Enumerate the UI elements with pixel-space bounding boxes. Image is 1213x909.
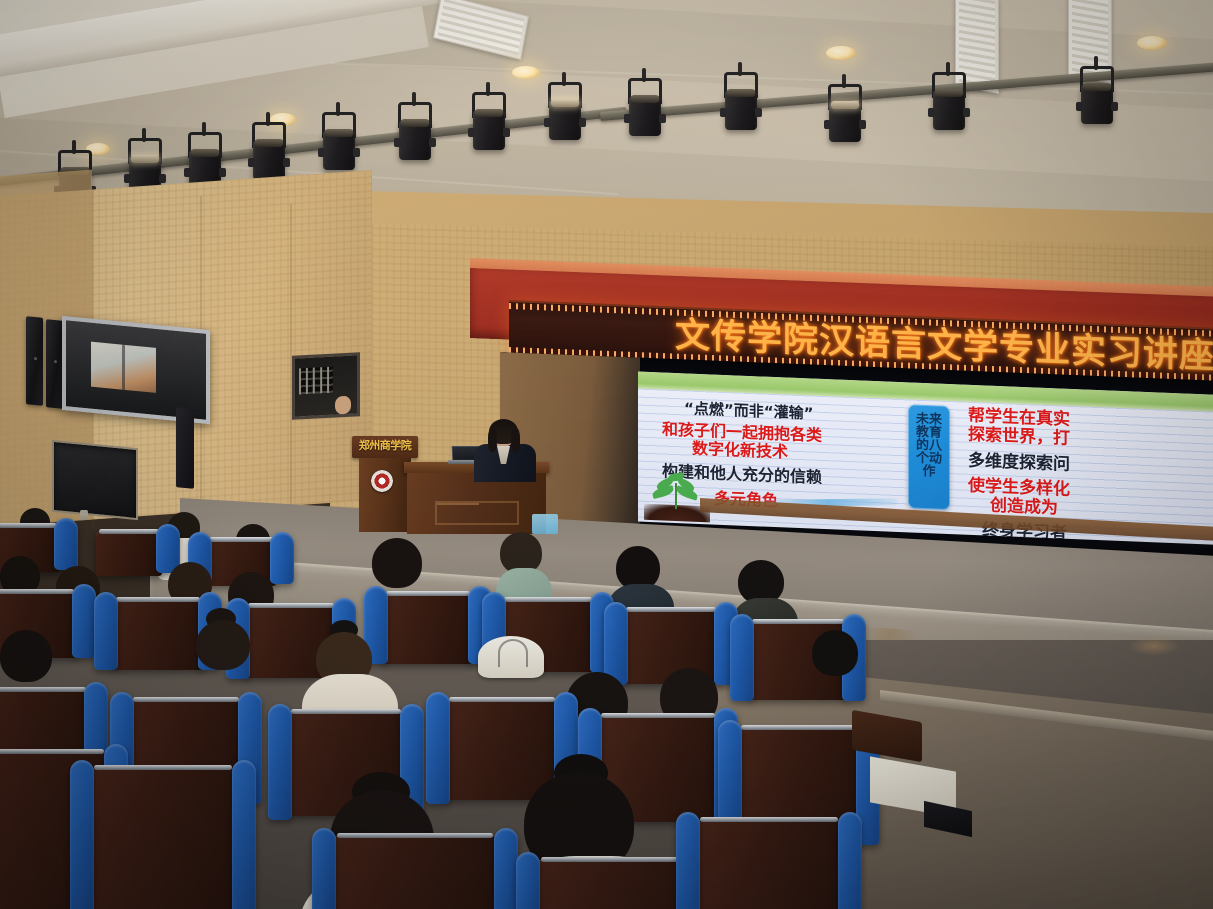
stage-spotlight [722,72,760,132]
seat [96,532,162,576]
stage-spotlight [626,78,664,138]
monitor-reflection [91,342,155,393]
slide-right-line-2: 探索世界，打 [968,426,1070,449]
seedling-sprout-graphic [644,464,710,523]
stage-spotlight [470,92,508,152]
university-emblem [371,470,393,492]
seat [88,768,238,909]
window-grille [299,367,334,394]
recessed-downlight [1137,36,1167,50]
recessed-downlight [512,66,540,79]
wall-speaker-strip [26,316,43,405]
person-head [812,630,858,676]
floor-scuff [1128,636,1180,656]
stage-spotlight [546,82,584,142]
baseball-cap [478,636,544,678]
person-head [372,538,422,588]
stage-spotlight [320,112,358,172]
water-bottle [532,514,558,534]
presenter-hair-side [511,428,520,452]
slide-right-line-3: 多维度探索问 [968,452,1070,475]
lower-dark-panel [52,440,138,520]
seat [694,820,844,909]
stage-spotlight [396,102,434,162]
person-head [196,620,250,670]
recessed-downlight [826,46,856,60]
person-head [0,630,52,682]
table-decorative-moulding [435,501,519,525]
stage-spotlight [826,84,864,144]
wall-speaker-strip [46,319,63,408]
presenter [466,422,546,480]
seat [330,836,500,909]
lecture-hall-photo: 文传学院汉语言文学专业实习讲座 “点燃”而非“灌输” 和孩子们一起拥抱各类 数字… [0,0,1213,909]
podium-institution-sign: 郑州商学院 [355,438,415,453]
wall-speaker-strip [176,407,194,489]
presenter-hair-side [488,428,497,452]
wall-fitting [80,510,88,520]
stage-spotlight [250,122,288,182]
table-front-panel [407,473,546,534]
slide-center-callout: 未来教育的八个动作 [908,404,950,510]
seat [382,594,474,664]
stage-spotlight [930,72,968,132]
person-in-window [335,396,351,415]
control-room-window [292,352,360,420]
seat [112,600,204,670]
stage-spotlight [1078,66,1116,126]
